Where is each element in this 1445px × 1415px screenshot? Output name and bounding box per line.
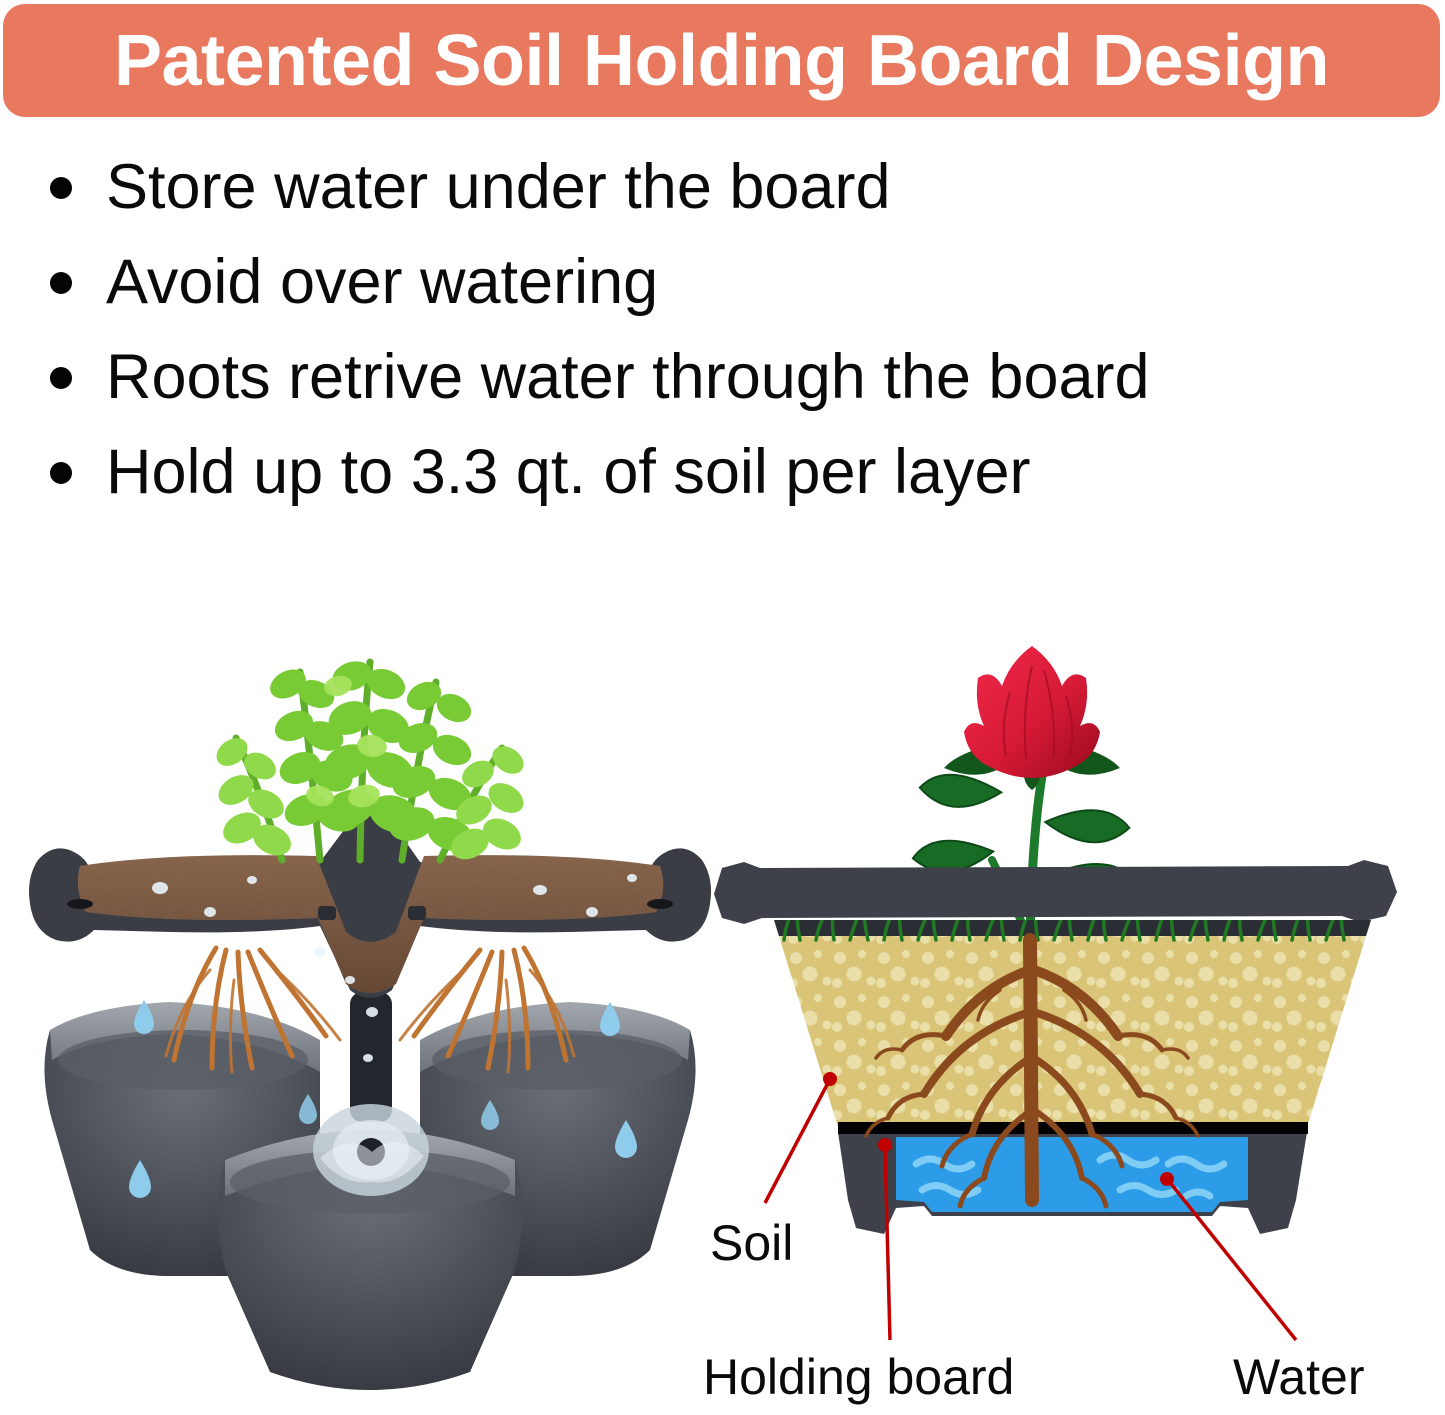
figure-area	[0, 540, 1445, 1415]
soil-holding-board	[29, 815, 711, 998]
page-title: Patented Soil Holding Board Design	[114, 25, 1329, 97]
planter-product-figure	[20, 560, 720, 1390]
callout-label-water: Water	[1233, 1352, 1365, 1402]
list-item: Avoid over watering	[0, 235, 1445, 330]
holding-board-line	[838, 1122, 1308, 1134]
pot-cross-section-figure	[700, 640, 1445, 1400]
bullet-text: Hold up to 3.3 qt. of soil per layer	[106, 439, 1031, 505]
list-item: Roots retrive water through the board	[0, 330, 1445, 425]
bullet-dot-icon	[50, 367, 72, 389]
callout-label-soil: Soil	[710, 1218, 793, 1268]
bullet-dot-icon	[50, 462, 72, 484]
callout-label-holding-board: Holding board	[703, 1352, 1014, 1402]
center-water-spout	[313, 992, 429, 1196]
bullet-text: Store water under the board	[106, 154, 891, 220]
feature-bullet-list: Store water under the board Avoid over w…	[0, 140, 1445, 520]
bullet-text: Avoid over watering	[106, 249, 658, 315]
header-banner: Patented Soil Holding Board Design	[3, 4, 1440, 117]
list-item: Hold up to 3.3 qt. of soil per layer	[0, 425, 1445, 520]
bullet-dot-icon	[50, 177, 72, 199]
bullet-text: Roots retrive water through the board	[106, 344, 1150, 410]
infographic-page: Patented Soil Holding Board Design Store…	[0, 0, 1445, 1415]
list-item: Store water under the board	[0, 140, 1445, 235]
bullet-dot-icon	[50, 272, 72, 294]
